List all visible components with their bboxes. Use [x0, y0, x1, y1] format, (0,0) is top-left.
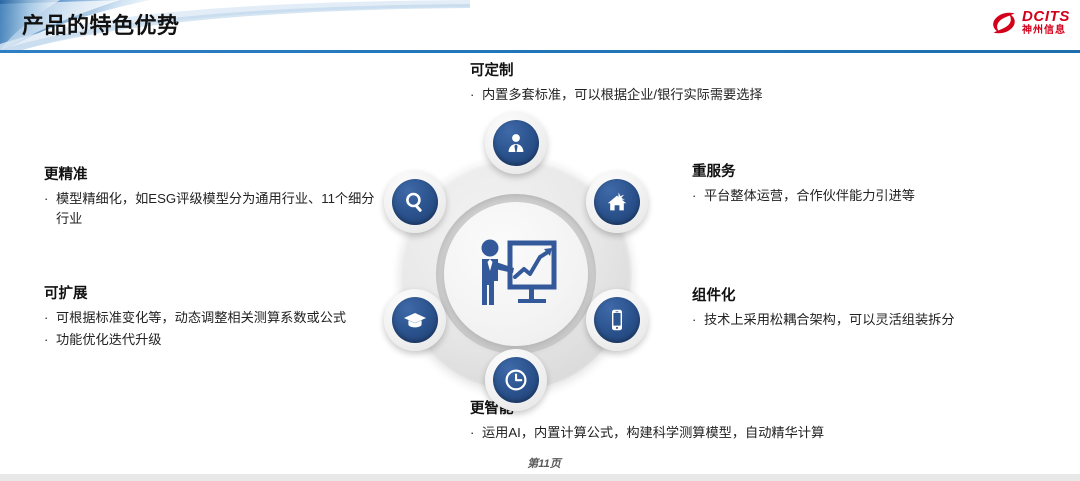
- page-number-label: 第11页: [527, 458, 560, 470]
- graduation-cap-icon: [403, 308, 427, 332]
- feature-bullet: · 功能优化迭代升级: [44, 330, 379, 350]
- feature-title: 组件化: [692, 287, 1022, 306]
- feature-bullet: · 可根据标准变化等，动态调整相关测算系数或公式: [44, 308, 379, 328]
- clock-icon: [504, 368, 528, 392]
- bullet-marker-icon: ·: [44, 330, 56, 350]
- presenter-chart-icon: [474, 235, 558, 313]
- bullet-marker-icon: ·: [692, 186, 704, 206]
- feature-bullet: · 技术上采用松耦合架构，可以灵活组装拆分: [692, 310, 1022, 330]
- bullet-marker-icon: ·: [692, 310, 704, 330]
- feature-bullet: · 模型精细化，如ESG评级模型分为通用行业、11个细分行业: [44, 189, 379, 230]
- feature-block-customizable: 可定制 · 内置多套标准，可以根据企业/银行实际需要选择: [470, 62, 890, 105]
- feature-bullet-text: 功能优化迭代升级: [56, 330, 379, 350]
- slide-body: 可定制 · 内置多套标准，可以根据企业/银行实际需要选择 更精准 · 模型精细化…: [0, 55, 1080, 481]
- diagram-node-mobile[interactable]: [586, 289, 648, 351]
- node-disc: [493, 120, 539, 166]
- node-disc: [594, 179, 640, 225]
- feature-bullet-text: 模型精细化，如ESG评级模型分为通用行业、11个细分行业: [56, 189, 379, 230]
- diagram-node-clock[interactable]: [485, 349, 547, 411]
- diagram-center-hub: [444, 202, 588, 346]
- feature-title: 重服务: [692, 163, 1022, 182]
- dcits-swirl-icon: [991, 11, 1017, 35]
- page-title: 产品的特色优势: [22, 8, 180, 40]
- feature-bullet: · 平台整体运营，合作伙伴能力引进等: [692, 186, 1022, 206]
- diagram-node-education[interactable]: [384, 289, 446, 351]
- bullet-marker-icon: ·: [44, 189, 56, 230]
- node-disc: [392, 297, 438, 343]
- bullet-marker-icon: ·: [470, 85, 482, 105]
- feature-block-extensible: 可扩展 · 可根据标准变化等，动态调整相关测算系数或公式 · 功能优化迭代升级: [44, 285, 379, 351]
- diagram-node-user[interactable]: [485, 112, 547, 174]
- header-divider: [0, 50, 1080, 53]
- page-number: 第11页: [0, 455, 1080, 471]
- feature-block-componentized: 组件化 · 技术上采用松耦合架构，可以灵活组装拆分: [692, 287, 1022, 330]
- home-signal-icon: [605, 190, 629, 214]
- logo-wordmark: DCITS 神州信息: [1022, 9, 1070, 36]
- feature-block-service-focused: 重服务 · 平台整体运营，合作伙伴能力引进等: [692, 163, 1022, 206]
- feature-hub-diagram: [378, 110, 653, 450]
- feature-bullet-text: 可根据标准变化等，动态调整相关测算系数或公式: [56, 308, 379, 328]
- diagram-node-search[interactable]: [384, 171, 446, 233]
- logo-name-cn: 神州信息: [1022, 26, 1070, 36]
- feature-bullet-text: 平台整体运营，合作伙伴能力引进等: [704, 186, 1022, 206]
- bullet-marker-icon: ·: [44, 308, 56, 328]
- magnifier-icon: [403, 190, 427, 214]
- slide-header: 产品的特色优势 DCITS 神州信息: [0, 0, 1080, 53]
- footer-bar: [0, 474, 1080, 481]
- feature-bullet-text: 内置多套标准，可以根据企业/银行实际需要选择: [482, 85, 890, 105]
- feature-block-more-accurate: 更精准 · 模型精细化，如ESG评级模型分为通用行业、11个细分行业: [44, 166, 379, 230]
- node-disc: [493, 357, 539, 403]
- node-disc: [392, 179, 438, 225]
- diagram-node-home[interactable]: [586, 171, 648, 233]
- node-disc: [594, 297, 640, 343]
- logo-name-en: DCITS: [1022, 9, 1070, 24]
- feature-bullet: · 内置多套标准，可以根据企业/银行实际需要选择: [470, 85, 890, 105]
- feature-bullet-text: 技术上采用松耦合架构，可以灵活组装拆分: [704, 310, 1022, 330]
- feature-title: 更精准: [44, 166, 379, 185]
- mobile-phone-icon: [605, 308, 629, 332]
- company-logo: DCITS 神州信息: [991, 9, 1070, 36]
- user-tie-icon: [504, 131, 528, 155]
- feature-title: 可扩展: [44, 285, 379, 304]
- feature-title: 可定制: [470, 62, 890, 81]
